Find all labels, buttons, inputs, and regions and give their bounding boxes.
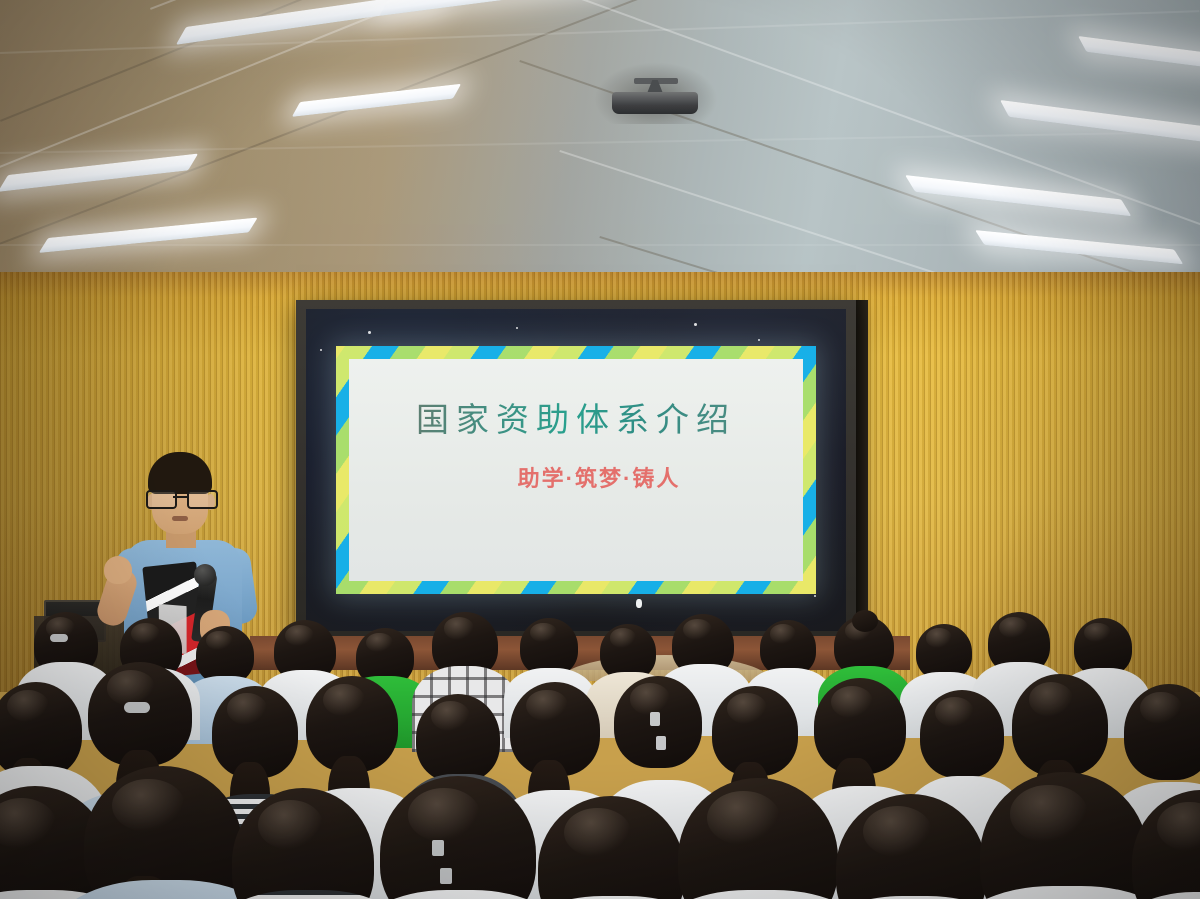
ceiling-light	[292, 84, 461, 117]
ceiling-light	[905, 175, 1131, 216]
ceiling-light	[975, 230, 1183, 264]
ceiling-light	[39, 218, 258, 253]
slide-subtitle: 助学·筑梦·铸人	[518, 461, 681, 493]
slide-content: 国家资助体系介绍 助学·筑梦·铸人	[349, 359, 803, 581]
audience-head	[416, 694, 500, 782]
presenter-fist	[104, 556, 132, 584]
audience-head	[1124, 684, 1200, 780]
slide-title: 国家资助体系介绍	[416, 393, 736, 441]
lecture-hall-photo: 国家资助体系介绍 助学·筑梦·铸人	[0, 0, 1200, 899]
slide-striped-border: 国家资助体系介绍 助学·筑梦·铸人	[336, 346, 816, 594]
glasses-icon	[146, 490, 216, 505]
presenter-hair	[148, 452, 212, 494]
ceiling-light	[1000, 100, 1200, 145]
audience	[0, 590, 1200, 899]
ceiling-light	[0, 154, 198, 192]
ceiling	[0, 0, 1200, 300]
projector	[612, 78, 698, 114]
ceiling-light	[380, 0, 616, 16]
ceiling-light	[1078, 36, 1200, 73]
audience-head	[920, 690, 1004, 778]
